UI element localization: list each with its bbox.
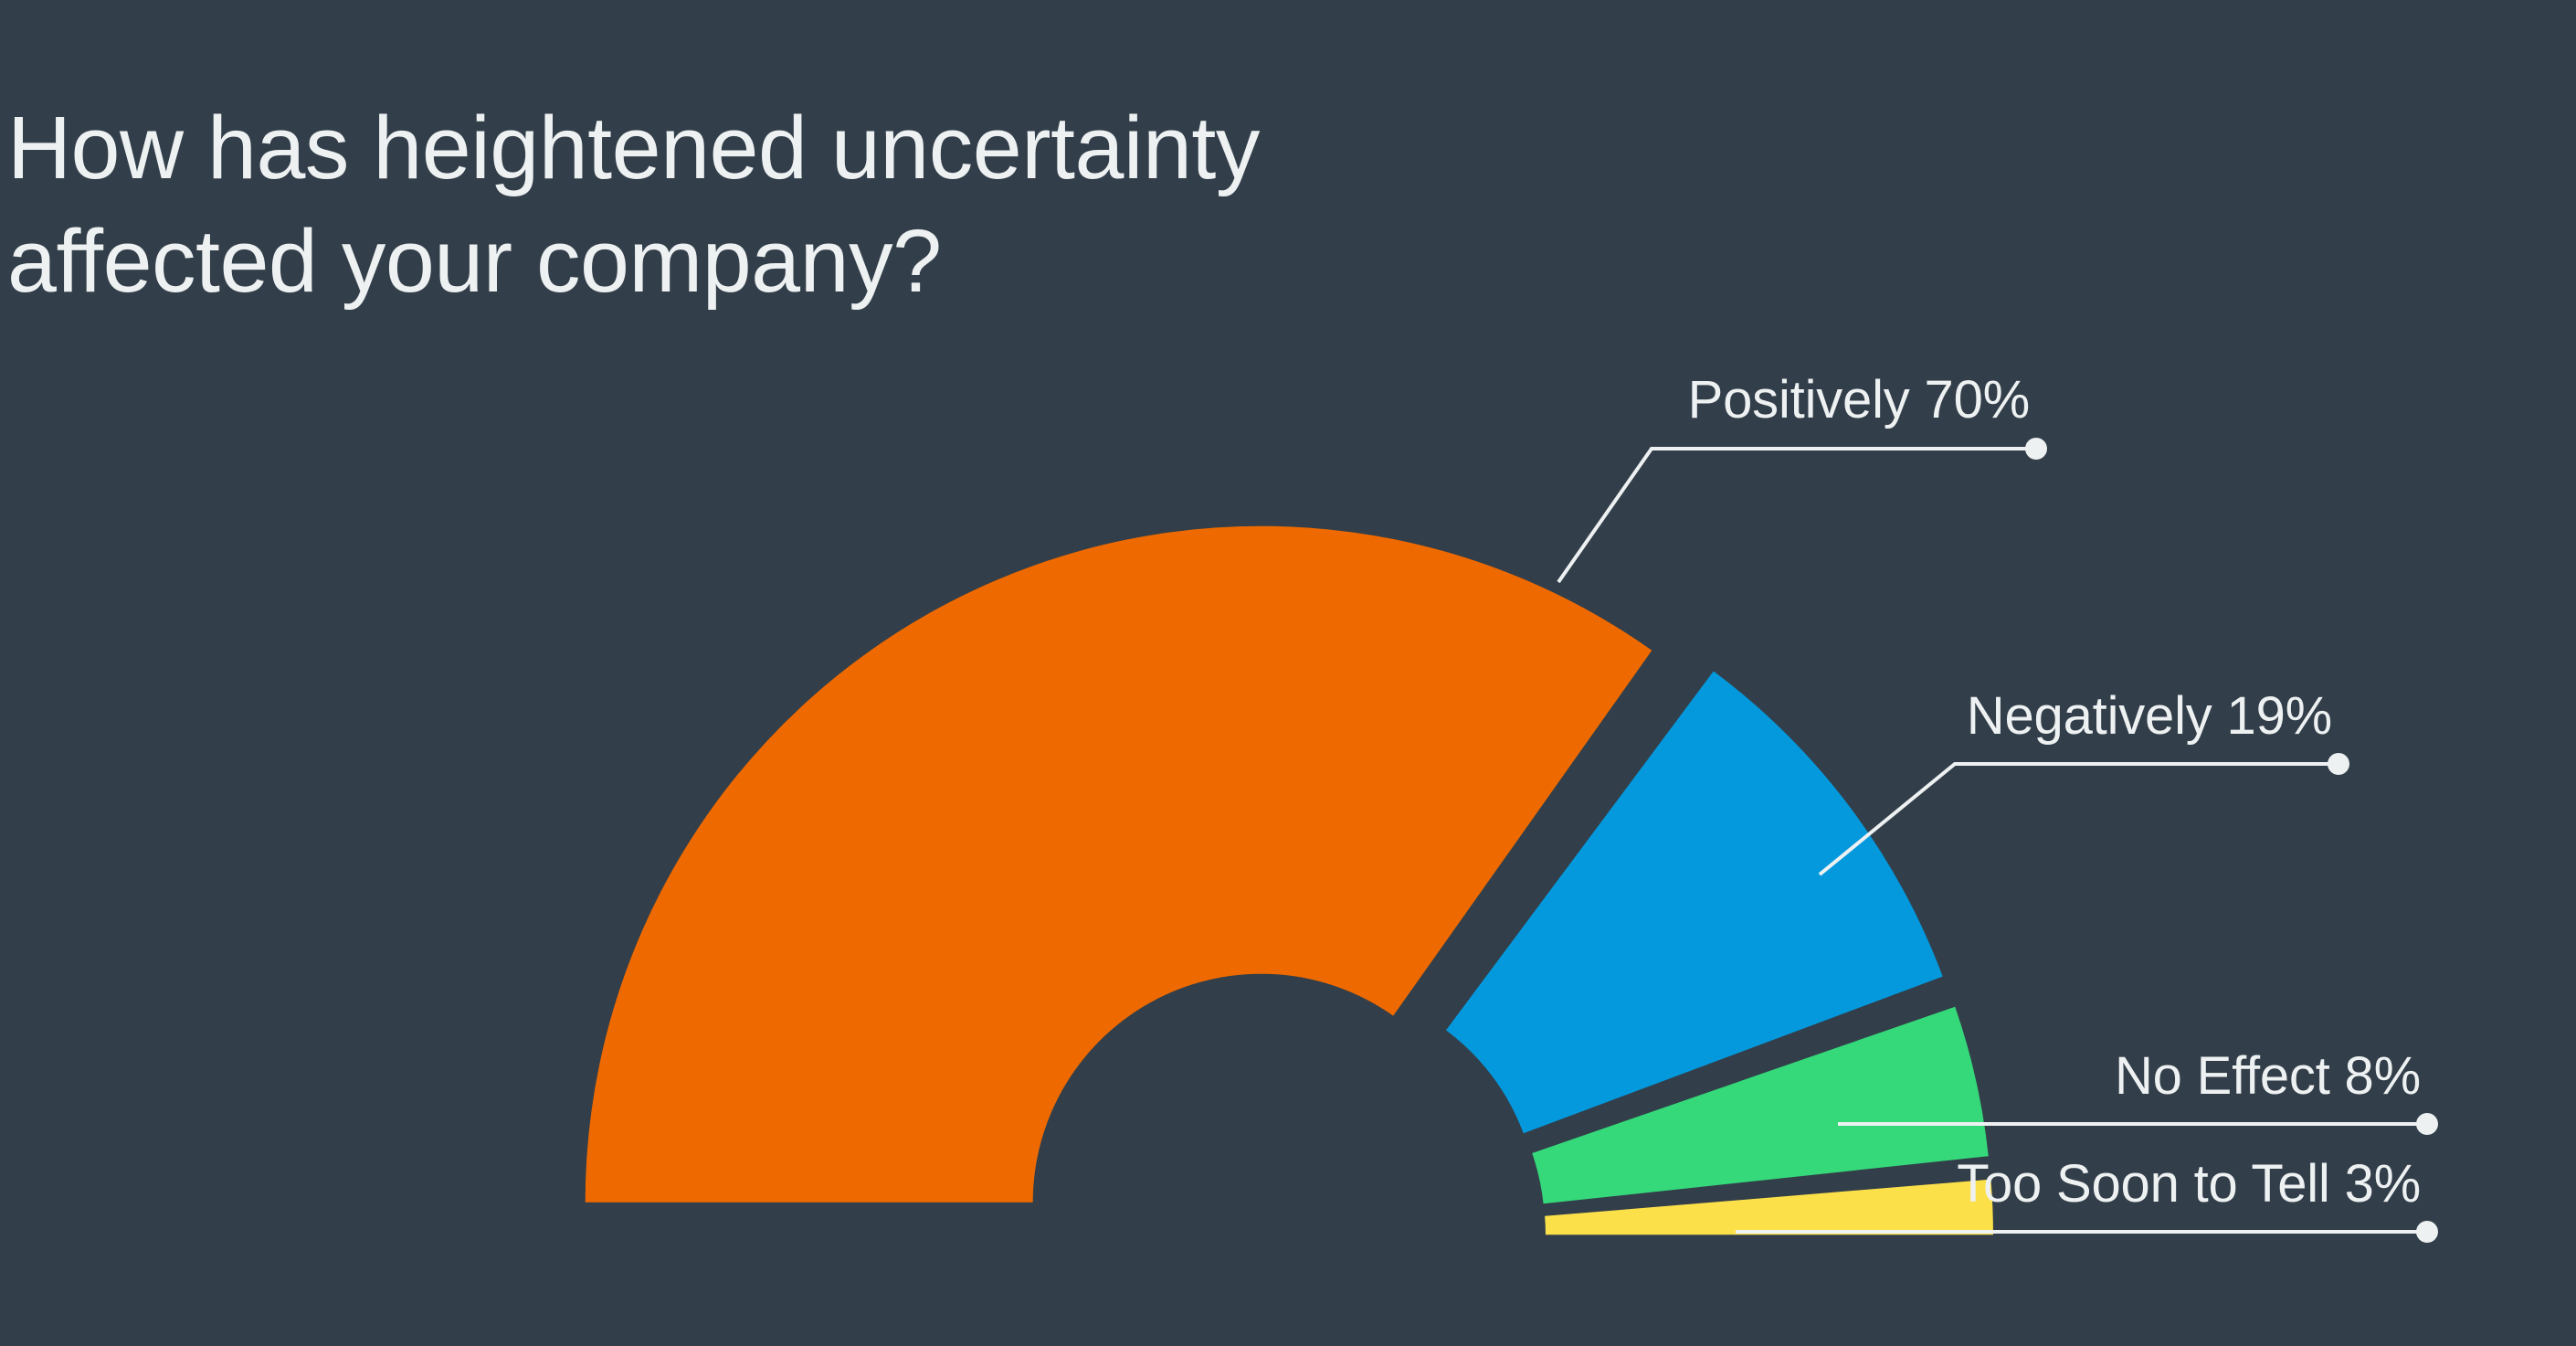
annotation-positively: Positively 70%: [1558, 370, 2047, 582]
label-positively: Positively 70%: [1688, 370, 2030, 429]
label-no-effect: No Effect 8%: [2115, 1046, 2421, 1106]
half-donut-chart: Positively 70% Negatively 19% No Effect …: [0, 0, 2576, 1346]
leader-dot-negatively: [2328, 753, 2349, 775]
leader-dot-too-soon: [2416, 1221, 2438, 1243]
leader-line-positively: [1558, 449, 2030, 582]
leader-line-negatively: [1820, 764, 2332, 874]
leader-dot-positively: [2025, 438, 2047, 460]
label-too-soon: Too Soon to Tell 3%: [1957, 1154, 2421, 1214]
label-negatively: Negatively 19%: [1967, 686, 2332, 746]
annotation-negatively: Negatively 19%: [1820, 686, 2349, 874]
slice-group: [586, 526, 1993, 1235]
chart-canvas: How has heightened uncertainty affected …: [0, 0, 2576, 1346]
slice-positively[interactable]: [586, 526, 1652, 1203]
leader-dot-no-effect: [2416, 1113, 2438, 1135]
